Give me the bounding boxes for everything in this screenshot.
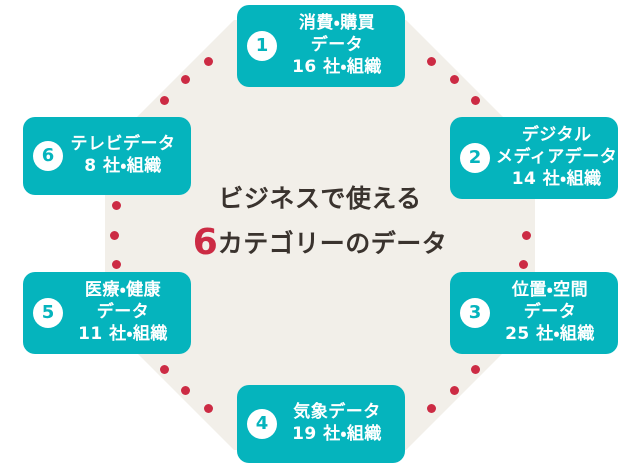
category-line: 8 社・組織	[69, 156, 177, 178]
category-card-3[interactable]: 3 位置・空間 データ 25 社・組織	[450, 272, 618, 354]
category-card-2[interactable]: 2 デジタル メディアデータ 14 社・組織	[450, 117, 618, 199]
category-line: 19 社・組織	[283, 424, 391, 446]
category-card-6[interactable]: 6 テレビデータ 8 社・組織	[23, 117, 191, 195]
category-label-5: 医療・健康 データ 11 社・組織	[69, 280, 181, 345]
center-heading-line-1: ビジネスで使える	[170, 183, 470, 214]
category-count-number: 6	[193, 222, 218, 263]
category-card-4[interactable]: 4 気象データ 19 社・組織	[237, 385, 405, 463]
category-number-badge-2: 2	[460, 143, 490, 173]
category-number-badge-6: 6	[33, 141, 63, 171]
category-line: メディアデータ	[496, 147, 617, 169]
category-line: 25 社・組織	[496, 324, 604, 346]
category-number-badge-5: 5	[33, 298, 63, 328]
category-line: 消費・購買	[283, 13, 391, 35]
center-heading-line-2: 6カテゴリーのデータ	[170, 220, 470, 265]
category-line: デジタル	[496, 125, 617, 147]
category-label-3: 位置・空間 データ 25 社・組織	[496, 280, 608, 345]
category-line: データ	[496, 302, 604, 324]
infographic-canvas: ビジネスで使える 6カテゴリーのデータ 1 消費・購買 データ 16 社・組織 …	[0, 0, 640, 470]
category-label-2: デジタル メディアデータ 14 社・組織	[496, 125, 621, 190]
category-card-1[interactable]: 1 消費・購買 データ 16 社・組織	[237, 5, 405, 87]
category-line: 16 社・組織	[283, 57, 391, 79]
center-heading-suffix: カテゴリーのデータ	[218, 229, 448, 258]
category-label-1: 消費・購買 データ 16 社・組織	[283, 13, 395, 78]
center-heading-group: ビジネスで使える 6カテゴリーのデータ	[170, 183, 470, 265]
category-line: 医療・健康	[69, 280, 177, 302]
category-line: データ	[283, 35, 391, 57]
category-line: 14 社・組織	[496, 169, 617, 191]
category-label-6: テレビデータ 8 社・組織	[69, 134, 181, 178]
category-number-badge-3: 3	[460, 298, 490, 328]
category-label-4: 気象データ 19 社・組織	[283, 402, 395, 446]
category-line: 位置・空間	[496, 280, 604, 302]
category-line: データ	[69, 302, 177, 324]
category-number-badge-4: 4	[247, 409, 277, 439]
category-line: 11 社・組織	[69, 324, 177, 346]
category-line: テレビデータ	[69, 134, 177, 156]
category-line: 気象データ	[283, 402, 391, 424]
category-card-5[interactable]: 5 医療・健康 データ 11 社・組織	[23, 272, 191, 354]
category-number-badge-1: 1	[247, 31, 277, 61]
